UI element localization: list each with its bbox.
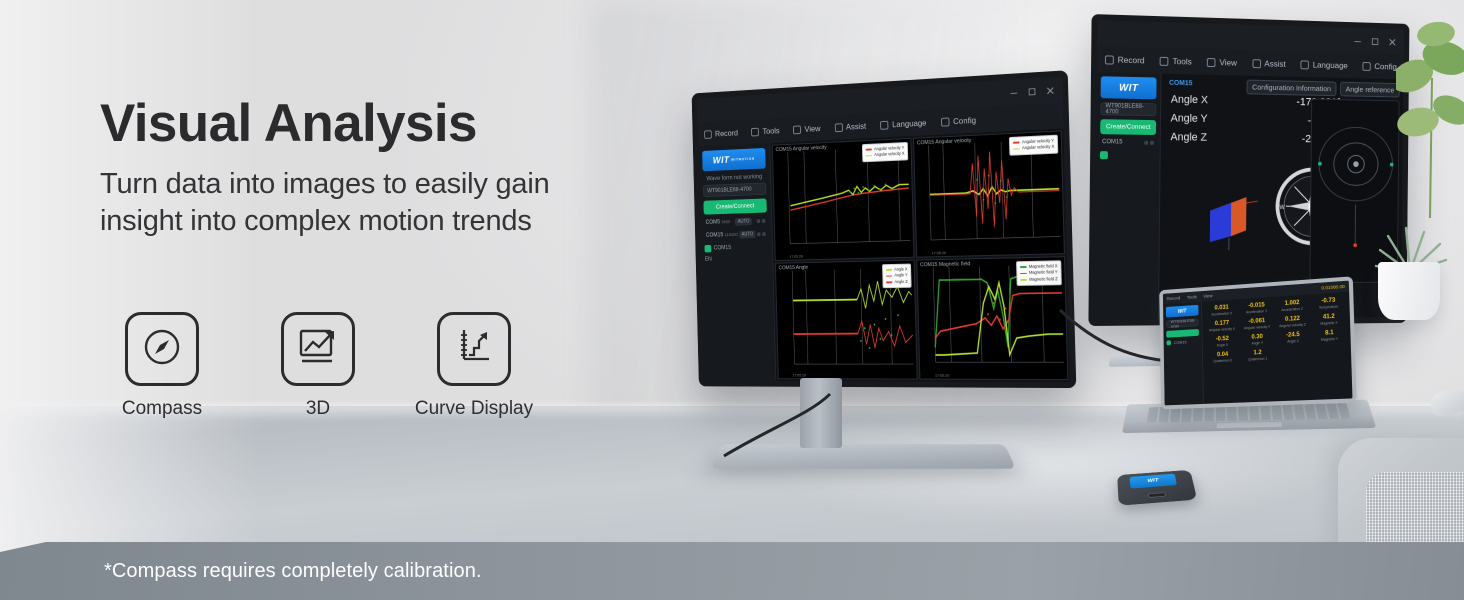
feature-icon-box bbox=[437, 312, 511, 386]
data-label: Quaternion 1 bbox=[1242, 356, 1275, 362]
chart-legend: Magnetic field X Magnetic field Y Magnet… bbox=[1016, 260, 1062, 286]
record-icon bbox=[704, 130, 712, 139]
data-cell: 1.2 Quaternion 1 bbox=[1241, 349, 1274, 362]
chart-xtick: 17:05:20 bbox=[789, 254, 803, 259]
chart-angular-velocity-2[interactable]: COM15 Angular velocity (deg/s) (deg/s) A… bbox=[913, 130, 1065, 257]
com-port-badge: AUTO bbox=[735, 218, 752, 226]
chart-legend: Angular velocity Y Angular velocity X bbox=[1009, 135, 1058, 156]
menu-item-assist[interactable]: Assist bbox=[834, 121, 866, 132]
feature-icon-box bbox=[281, 312, 355, 386]
laptop-port-row[interactable]: COM15 bbox=[1166, 339, 1199, 346]
menu-item-language[interactable]: Language bbox=[880, 118, 926, 130]
device-id-field[interactable]: WT901BLE68-4700 bbox=[1100, 102, 1156, 116]
brand-subtext: WITMOTION bbox=[731, 157, 755, 162]
com-port-row[interactable]: COM5 9600 AUTO bbox=[704, 216, 767, 227]
menu-label: Config bbox=[1374, 61, 1397, 71]
data-label: Acceleration X bbox=[1206, 311, 1238, 317]
chart-xtick: 17:05:20 bbox=[932, 250, 946, 255]
left-sidebar: WIT WITMOTION Wave form not working WT90… bbox=[698, 143, 776, 381]
data-cell: 0.031 Acceleration X bbox=[1206, 304, 1238, 317]
data-label: Angular velocity X bbox=[1206, 327, 1238, 333]
menu-item-record[interactable]: Record bbox=[704, 128, 738, 139]
data-label: Acceleration Z bbox=[1276, 306, 1309, 312]
compass-icon bbox=[141, 326, 183, 373]
config-icon bbox=[941, 117, 950, 126]
chart-angle[interactable]: COM15 Angle Angle (deg) Angle X Angle Y … bbox=[775, 260, 918, 380]
brand-text: WIT bbox=[1119, 82, 1138, 93]
chart-angular-velocity-1[interactable]: COM15 Angular velocity Angular velocity … bbox=[772, 138, 914, 261]
checkbox-label: COM15 bbox=[714, 245, 731, 251]
menu-item-tools[interactable]: Tools bbox=[1160, 56, 1192, 67]
data-cell: -24.5 Angle Z bbox=[1276, 331, 1309, 344]
feature-list: Compass 3D bbox=[98, 312, 538, 420]
maximize-icon[interactable] bbox=[1371, 37, 1379, 46]
menu-item-language[interactable]: Language bbox=[1301, 59, 1348, 70]
connect-button-label: Create/Connect bbox=[716, 203, 754, 211]
com-checkbox-row[interactable] bbox=[1100, 151, 1156, 160]
com-port-row[interactable]: COM15 bbox=[1100, 138, 1156, 147]
data-cell: 0.177 Angular velocity X bbox=[1206, 320, 1238, 333]
plant-pot bbox=[1378, 262, 1440, 320]
device-id-field[interactable]: WT901BLE68-4700 bbox=[703, 183, 766, 198]
minimize-icon[interactable] bbox=[1353, 36, 1361, 45]
page-title: Visual Analysis bbox=[100, 96, 620, 152]
laptop: Record Tools View 0.01000.00 WIT WT901BL… bbox=[1128, 282, 1368, 472]
laptop-device-field[interactable]: WT901BLE68-4700 bbox=[1166, 318, 1199, 328]
folder-icon bbox=[1033, 386, 1038, 388]
view-icon bbox=[1207, 58, 1216, 67]
data-cell: 1.002 Acceleration Z bbox=[1276, 299, 1309, 312]
view-icon bbox=[793, 125, 801, 134]
chart-grid: COM15 Angular velocity Angular velocity … bbox=[770, 128, 1070, 382]
close-icon[interactable] bbox=[1046, 85, 1055, 94]
create-connect-button[interactable]: Create/Connect bbox=[703, 198, 766, 214]
data-label: Temperature bbox=[1312, 304, 1346, 310]
menu-label: Record bbox=[1118, 55, 1145, 66]
menu-item-record[interactable]: Record bbox=[1105, 54, 1145, 65]
laptop-header-value: 0.01000.00 bbox=[1321, 284, 1344, 291]
settings-button[interactable]: Settings bbox=[997, 385, 1025, 388]
feature-icon-box bbox=[125, 312, 199, 386]
com-checkbox-row[interactable]: COM15 bbox=[705, 243, 768, 252]
right-monitor-screen: Record Tools View Assist Language bbox=[1094, 20, 1404, 320]
data-label: Magnetic X bbox=[1312, 320, 1346, 326]
witmotion-logo: WIT bbox=[1101, 76, 1157, 99]
poster-stage: Record Tools View Assist Language bbox=[0, 0, 1464, 600]
sidebar-title: Wave form not working bbox=[703, 173, 766, 182]
laptop-menu-record[interactable]: Record bbox=[1167, 296, 1181, 302]
menu-label: Language bbox=[892, 118, 927, 129]
laptop-connect-button[interactable] bbox=[1166, 329, 1199, 338]
tools-icon bbox=[1160, 56, 1169, 65]
menu-label: View bbox=[1219, 57, 1237, 67]
brand-text: WIT bbox=[1147, 478, 1159, 483]
feature-3d[interactable]: 3D bbox=[254, 312, 382, 420]
angle-label: Angle Y bbox=[1171, 112, 1208, 124]
legend-label: Angular velocity X bbox=[874, 151, 904, 158]
data-cell: -0.015 Acceleration Y bbox=[1240, 302, 1273, 315]
data-label: Angular velocity Z bbox=[1276, 322, 1309, 328]
create-connect-button[interactable]: Create/Connect bbox=[1100, 119, 1156, 135]
left-monitor-screen: Record Tools View Assist Language bbox=[697, 77, 1071, 383]
curve-display-icon bbox=[453, 326, 495, 373]
menu-item-assist[interactable]: Assist bbox=[1252, 58, 1286, 69]
config-icon bbox=[1362, 62, 1370, 71]
right-monitor: Record Tools View Assist Language bbox=[1088, 14, 1409, 326]
laptop-trackpad[interactable] bbox=[1216, 421, 1283, 429]
minimize-icon[interactable] bbox=[1009, 88, 1018, 97]
footer-banner: *Compass requires completely calibration… bbox=[0, 542, 1464, 600]
com-port-name: COM15 bbox=[1102, 139, 1122, 145]
menu-item-view[interactable]: View bbox=[793, 123, 820, 134]
footer-note: *Compass requires completely calibration… bbox=[104, 560, 482, 583]
laptop-port-label: COM15 bbox=[1174, 339, 1187, 345]
data-label: Magnetic Y bbox=[1313, 336, 1347, 342]
data-cell: -0.061 Angular velocity Y bbox=[1241, 318, 1274, 331]
checkbox-icon[interactable] bbox=[1166, 340, 1171, 345]
brand-text: WIT bbox=[713, 155, 730, 166]
left-monitor: Record Tools View Assist Language bbox=[692, 70, 1077, 388]
legend-label: Angular velocity X bbox=[1022, 144, 1054, 152]
language-icon bbox=[880, 120, 888, 129]
feature-curve-display[interactable]: Curve Display bbox=[410, 312, 538, 420]
angle-reference-button[interactable]: Angle reference bbox=[1340, 82, 1400, 98]
com-port-heading: COM15 bbox=[1169, 80, 1192, 87]
data-cell: 41.2 Magnetic X bbox=[1312, 313, 1346, 326]
record-icon bbox=[1105, 55, 1114, 64]
hero-subtitle: Turn data into images to easily gain ins… bbox=[100, 166, 600, 240]
data-cell: -0.52 Angle X bbox=[1206, 335, 1238, 348]
3d-chart-icon bbox=[296, 326, 340, 373]
chart-legend: Angular velocity Y Angular velocity X bbox=[862, 142, 908, 162]
witmotion-logo: WIT WITMOTION bbox=[702, 148, 766, 171]
com-port-badge: AUTO bbox=[739, 231, 756, 239]
menu-label: Language bbox=[1313, 60, 1348, 71]
chart-magnetic-field[interactable]: COM15 Magnetic field Magnetic field Magn… bbox=[916, 256, 1068, 380]
menu-item-config[interactable]: Config bbox=[941, 115, 976, 127]
legend-label: Magnetic field Z bbox=[1029, 276, 1058, 283]
menu-label: Config bbox=[953, 115, 976, 126]
menu-item-view[interactable]: View bbox=[1207, 57, 1237, 68]
checkbox-icon[interactable] bbox=[1100, 151, 1108, 159]
laptop-menu-view[interactable]: View bbox=[1203, 293, 1212, 298]
menu-label: Assist bbox=[846, 121, 866, 132]
menu-label: Assist bbox=[1264, 59, 1285, 69]
3d-model-cube[interactable] bbox=[1196, 185, 1263, 254]
menu-label: Tools bbox=[762, 126, 779, 136]
compass-mark-w: W bbox=[1279, 205, 1285, 211]
com-port-baud: 115200 bbox=[725, 233, 738, 238]
legend-label: Angle Z bbox=[894, 279, 907, 285]
chart-title: COM15 Angle bbox=[778, 265, 808, 271]
angle-label: Angle Z bbox=[1170, 131, 1207, 143]
sidebar-footer-label: EN bbox=[705, 257, 712, 263]
feature-compass[interactable]: Compass bbox=[98, 312, 226, 420]
checkbox-icon[interactable] bbox=[705, 245, 712, 253]
com-port-baud: 9600 bbox=[721, 220, 730, 225]
hero-copy: Visual Analysis Turn data into images to… bbox=[100, 96, 620, 240]
assist-icon bbox=[834, 123, 842, 132]
menu-item-tools[interactable]: Tools bbox=[751, 126, 779, 137]
data-cell: -0.73 Temperature bbox=[1312, 297, 1346, 310]
laptop-lid: Record Tools View 0.01000.00 WIT WT901BL… bbox=[1159, 276, 1357, 409]
data-label: Quaternion 0 bbox=[1207, 358, 1239, 364]
feature-label: Curve Display bbox=[415, 398, 533, 420]
assist-icon bbox=[1252, 59, 1261, 68]
data-label: Angle X bbox=[1207, 342, 1239, 348]
chart-ylabel: Magnetic field bbox=[916, 293, 917, 317]
maximize-icon[interactable] bbox=[1028, 87, 1037, 96]
laptop-screen: Record Tools View 0.01000.00 WIT WT901BL… bbox=[1163, 281, 1353, 406]
data-cell: 8.1 Magnetic Y bbox=[1312, 329, 1346, 342]
com-port-name: COM5 bbox=[706, 220, 721, 226]
laptop-menu-tools[interactable]: Tools bbox=[1187, 294, 1197, 300]
language-icon bbox=[1301, 60, 1309, 69]
laptop-data-grid: 0.031 Acceleration X -0.015 Acceleration… bbox=[1202, 292, 1352, 404]
data-cell: 0.04 Quaternion 0 bbox=[1207, 351, 1239, 363]
feature-label: Compass bbox=[122, 398, 202, 420]
menu-item-config[interactable]: Config bbox=[1362, 61, 1396, 71]
connect-button-label: Create/Connect bbox=[1106, 123, 1151, 131]
menu-label: Record bbox=[715, 128, 738, 138]
laptop-sidebar: WIT WT901BLE68-4700 COM15 bbox=[1163, 302, 1204, 406]
com-port-row[interactable]: COM15 115200 AUTO bbox=[704, 229, 767, 240]
chart-xtick: 17:05:20 bbox=[935, 373, 949, 378]
data-cell: 0.122 Angular velocity Z bbox=[1276, 315, 1309, 328]
com-port-actions[interactable] bbox=[1144, 141, 1154, 145]
com-port-actions[interactable] bbox=[757, 219, 766, 223]
status-label: Settings bbox=[1004, 385, 1025, 388]
menu-label: Tools bbox=[1173, 56, 1192, 66]
tools-icon bbox=[751, 127, 759, 136]
chart-title: COM15 Magnetic field bbox=[920, 261, 970, 268]
sensor-dongle[interactable]: WIT bbox=[1118, 466, 1194, 508]
chart-legend: Angle X Angle Y Angle Z bbox=[882, 264, 912, 289]
chart-xtick: 17:05:20 bbox=[792, 373, 806, 378]
chart-ylabel: Angle (deg) bbox=[775, 299, 776, 318]
sidebar-footer: EN bbox=[705, 256, 768, 263]
data-label: Angular velocity Y bbox=[1241, 325, 1273, 331]
leafy-plant bbox=[1396, 18, 1464, 218]
data-cell: 0.30 Angle Y bbox=[1241, 333, 1274, 346]
monitor-cable bbox=[690, 390, 890, 480]
laptop-body: WIT WT901BLE68-4700 COM15 0.031 Accelera… bbox=[1163, 292, 1352, 406]
data-label: Angle Z bbox=[1277, 338, 1310, 344]
com-port-actions[interactable] bbox=[757, 232, 766, 236]
data-label: Acceleration Y bbox=[1240, 309, 1272, 315]
angle-label: Angle X bbox=[1171, 94, 1208, 107]
configuration-information-button[interactable]: Configuration Information bbox=[1246, 80, 1336, 97]
witmotion-logo: WIT bbox=[1166, 305, 1199, 318]
data-label: Angle Y bbox=[1241, 340, 1273, 346]
menu-label: View bbox=[804, 123, 820, 133]
feature-label: 3D bbox=[306, 398, 330, 420]
com-port-name: COM15 bbox=[706, 233, 723, 239]
left-monitor-body: WIT WITMOTION Wave form not working WT90… bbox=[698, 128, 1070, 382]
